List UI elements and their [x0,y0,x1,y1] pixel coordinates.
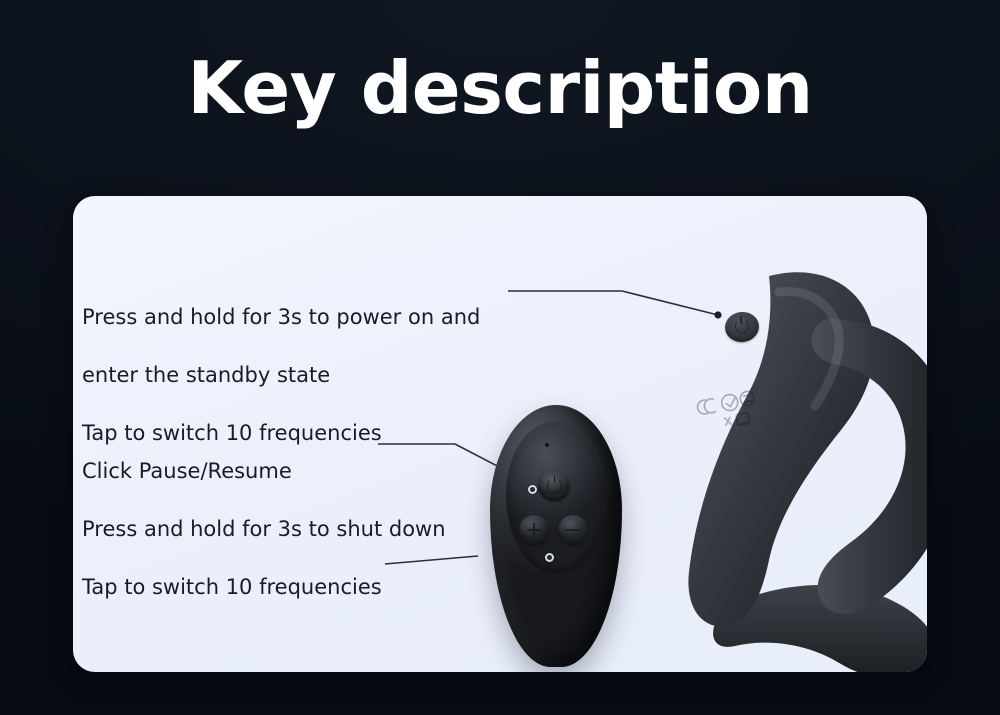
led-indicator-top [528,485,537,494]
power-icon [547,478,562,493]
leader-line-frequency [385,556,478,564]
page-root: Key description Press and hold for 3s to… [0,0,1000,715]
content-card: Press and hold for 3s to power on and en… [73,196,927,672]
remote-power-button[interactable] [538,471,570,501]
device-illustration [573,214,927,672]
main-device [573,214,927,672]
page-title: Key description [0,52,1000,124]
power-icon [734,318,750,334]
led-indicator-bottom [545,553,554,562]
ir-emitter-dot [545,443,549,447]
remote-plus-button[interactable] [519,515,549,545]
